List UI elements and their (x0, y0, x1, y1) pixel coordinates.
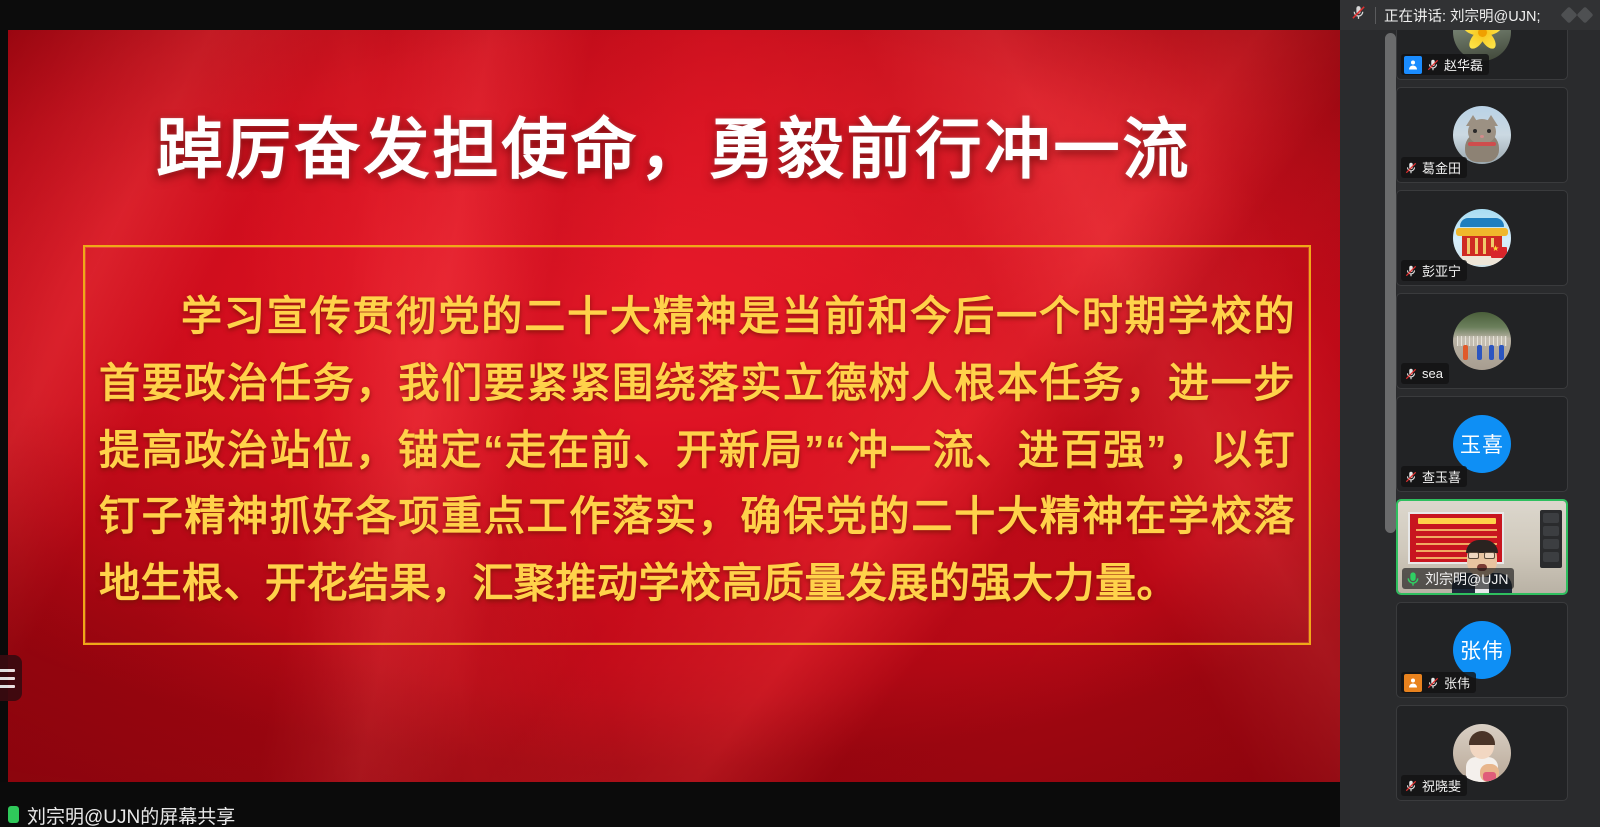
panel-header: 正在讲话: 刘宗明@UJN; (1340, 0, 1600, 30)
video-conference-window: 踔厉奋发担使命，勇毅前行冲一流 学习宣传贯彻党的二十大精神是当前和今后一个时期学… (0, 0, 1600, 827)
mic-muted-icon (1426, 58, 1440, 72)
share-top-letterbox (0, 0, 1340, 30)
mic-muted-icon (1404, 367, 1418, 381)
collapse-panel-icon[interactable] (1560, 5, 1594, 25)
screen-share-active-indicator (8, 806, 19, 823)
mic-muted-icon (1426, 676, 1440, 690)
participant-tile[interactable]: 彭亚宁 (1396, 190, 1568, 286)
participant-tile[interactable]: 张伟 张伟 (1396, 602, 1568, 698)
share-status-bar: 刘宗明@UJN的屏幕共享 (0, 782, 1340, 827)
mic-muted-icon (1350, 4, 1367, 26)
participant-namebar: 赵华磊 (1401, 54, 1489, 75)
participant-namebar: 彭亚宁 (1401, 260, 1467, 281)
participant-namebar: 祝晓斐 (1401, 775, 1467, 796)
presentation-slide: 踔厉奋发担使命，勇毅前行冲一流 学习宣传贯彻党的二十大精神是当前和今后一个时期学… (8, 30, 1340, 782)
participant-name: 彭亚宁 (1422, 261, 1461, 280)
participants-scroll-area[interactable]: 赵华磊 (1340, 30, 1600, 827)
initials-avatar: 玉喜 (1453, 415, 1511, 473)
participant-name: 查玉喜 (1422, 467, 1461, 486)
participant-tile[interactable]: 赵华磊 (1396, 30, 1568, 80)
mic-muted-icon (1404, 264, 1418, 278)
cat-photo-avatar (1453, 106, 1511, 164)
slide-title: 踔厉奋发担使命，勇毅前行冲一流 (8, 116, 1340, 182)
child-photo-avatar (1453, 724, 1511, 782)
mic-active-icon (1405, 571, 1421, 587)
participant-name: 葛金田 (1422, 158, 1461, 177)
mic-muted-icon (1404, 470, 1418, 484)
share-status-label: 刘宗明@UJN的屏幕共享 (27, 802, 235, 827)
participant-namebar: sea (1401, 363, 1449, 384)
participant-name: 祝晓斐 (1422, 776, 1461, 795)
host-badge-icon (1404, 674, 1422, 692)
mic-muted-icon (1404, 779, 1418, 793)
participant-tile-active-speaker[interactable]: 刘宗明@UJN (1396, 499, 1568, 595)
participant-namebar: 张伟 (1401, 672, 1476, 693)
cohost-badge-icon (1404, 56, 1422, 74)
slide-content-box: 学习宣传贯彻党的二十大精神是当前和今后一个时期学校的首要政治任务，我们要紧紧围绕… (83, 245, 1311, 645)
participant-tile[interactable]: 葛金田 (1396, 87, 1568, 183)
participant-tile[interactable]: 祝晓斐 (1396, 705, 1568, 801)
sports-photo-avatar (1453, 312, 1511, 370)
participant-namebar: 刘宗明@UJN (1402, 568, 1514, 589)
participant-name: 刘宗明@UJN (1425, 569, 1508, 589)
participant-name: 赵华磊 (1444, 55, 1483, 74)
hamburger-menu-icon[interactable] (0, 655, 22, 701)
mic-muted-icon (1404, 161, 1418, 175)
participants-panel: 正在讲话: 刘宗明@UJN; (1340, 0, 1600, 827)
screen-share-area[interactable]: 踔厉奋发担使命，勇毅前行冲一流 学习宣传贯彻党的二十大精神是当前和今后一个时期学… (0, 0, 1340, 827)
participant-namebar: 查玉喜 (1401, 466, 1467, 487)
participant-tile[interactable]: 玉喜 查玉喜 (1396, 396, 1568, 492)
active-speaker-label: 正在讲话: 刘宗明@UJN; (1384, 5, 1552, 26)
participants-scrollbar-thumb[interactable] (1385, 33, 1396, 533)
participant-namebar: 葛金田 (1401, 157, 1467, 178)
initials-avatar: 张伟 (1453, 621, 1511, 679)
participant-name: sea (1422, 366, 1443, 381)
participant-tile[interactable]: sea (1396, 293, 1568, 389)
temple-photo-avatar (1453, 209, 1511, 267)
slide-body-text: 学习宣传贯彻党的二十大精神是当前和今后一个时期学校的首要政治任务，我们要紧紧围绕… (95, 283, 1299, 617)
participant-tiles-list: 赵华磊 (1396, 30, 1582, 808)
participant-name: 张伟 (1444, 673, 1470, 692)
header-divider (1375, 7, 1376, 24)
